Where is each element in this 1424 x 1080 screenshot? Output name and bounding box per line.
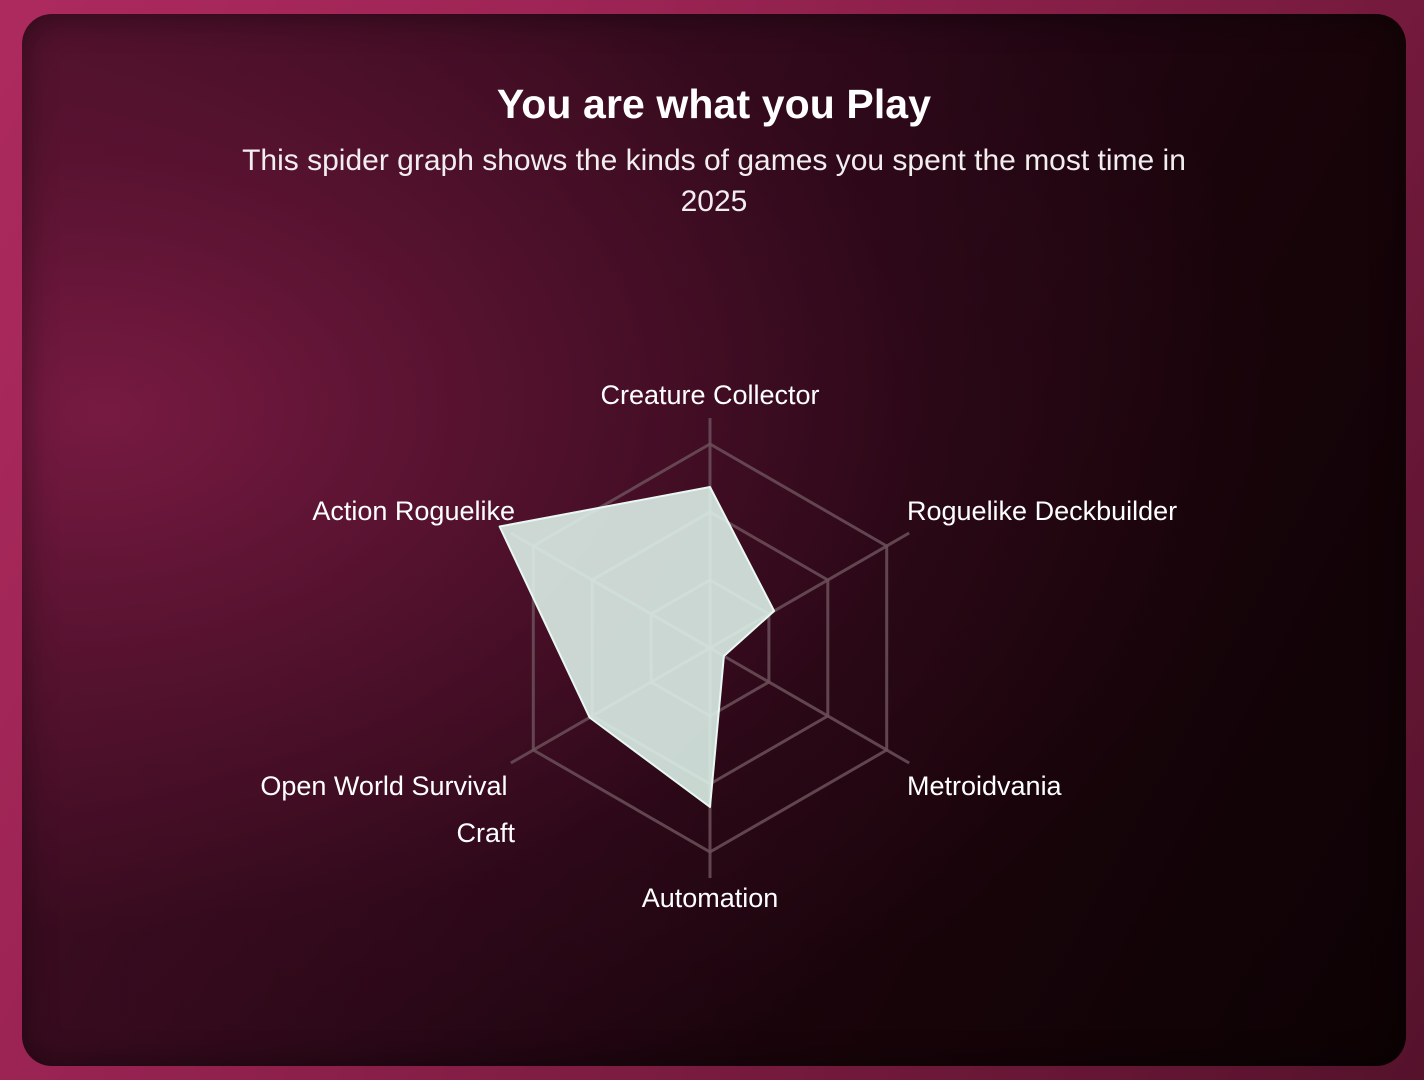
- axis-label-open-world-survival-craft-line-1: Open World Survival: [260, 771, 507, 801]
- radar-data-polygon: [500, 487, 774, 807]
- axis-line-action-roguelike: [511, 533, 710, 648]
- axis-label-open-world-survival-craft-line-2: Craft: [456, 818, 515, 848]
- chart-card: You are what you Play This spider graph …: [22, 14, 1406, 1066]
- axis-line-roguelike-deckbuilder: [710, 533, 909, 648]
- axis-line-metroidvania: [710, 648, 909, 763]
- axis-label-roguelike-deckbuilder: Roguelike Deckbuilder: [907, 496, 1177, 526]
- axis-label-metroidvania: Metroidvania: [907, 771, 1063, 801]
- radar-ring-outer: [533, 444, 886, 852]
- axis-label-open-world-survival-craft: Open World Survival Craft: [260, 771, 515, 848]
- radar-axis-labels: Creature Collector Roguelike Deckbuilder…: [260, 380, 1177, 913]
- app-root: You are what you Play This spider graph …: [0, 0, 1424, 1080]
- chart-subtitle: This spider graph shows the kinds of gam…: [209, 141, 1219, 223]
- radar-grid: [511, 418, 909, 878]
- radar-ring-middle: [592, 512, 828, 784]
- chart-header: You are what you Play This spider graph …: [22, 14, 1406, 223]
- page-title: You are what you Play: [22, 82, 1406, 128]
- axis-label-creature-collector: Creature Collector: [600, 380, 819, 410]
- axis-line-open-world-survival-craft: [511, 648, 710, 763]
- axis-label-action-roguelike: Action Roguelike: [312, 496, 515, 526]
- axis-label-automation: Automation: [642, 883, 779, 913]
- radar-ring-inner: [651, 580, 769, 716]
